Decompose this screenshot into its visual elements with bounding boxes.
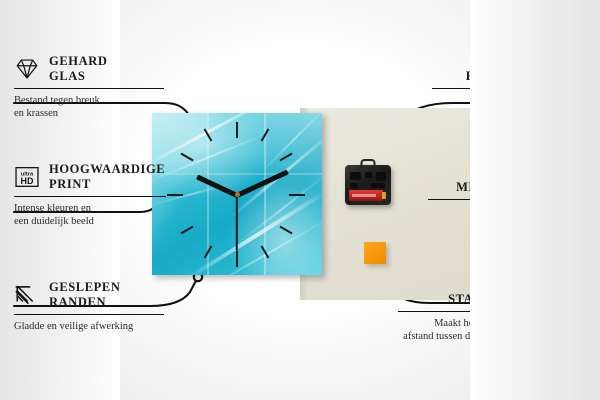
feature-title-line1: GEHARD — [49, 54, 107, 69]
feature-subtitle-line1: Eenvoudige installatie — [432, 94, 586, 107]
feature-title-line2: MECHANISME — [456, 180, 551, 195]
feature-title-line2: PRINT — [49, 177, 165, 192]
hanger-hook-icon — [361, 159, 376, 168]
feature-subtitle-line2: van de klok aan de muur — [432, 107, 586, 120]
feature-title-line1: HOOGWAARDIGE — [49, 162, 165, 177]
feature-subtitle-line2: een duidelijk beeld — [14, 215, 166, 228]
feature-hoogwaardige-print: ultra HD HOOGWAARDIGE PRINT Intense kleu… — [14, 162, 166, 228]
feature-title-line1: STILLE — [456, 165, 551, 180]
hour-marker — [236, 122, 238, 138]
feature-title-line2: GLAS — [49, 69, 107, 84]
ultra-hd-icon: ultra HD — [14, 164, 40, 190]
beveled-edges-icon — [14, 282, 40, 308]
feature-title-line2: STANDHOUDER — [448, 292, 551, 307]
divider — [14, 88, 164, 89]
feature-subtitle-line1: Maakt het behouden van een gelijke — [398, 317, 586, 330]
feature-title-line2: HANDGREEP — [466, 69, 551, 84]
divider — [14, 196, 166, 197]
hour-marker — [289, 194, 305, 196]
framed-picture-icon — [560, 56, 586, 82]
feature-geslepen-randen: GESLEPEN RANDEN Gladde en veilige afwerk… — [14, 280, 164, 333]
down-arrow-pad-icon — [560, 279, 586, 305]
feature-title-line2: RANDEN — [49, 295, 121, 310]
battery — [349, 190, 383, 201]
gear-icon — [560, 167, 586, 193]
feature-subtitle-line2: van de klok — [428, 218, 586, 231]
feature-title-line1: SCHUIMAF- — [448, 277, 551, 292]
foam-spacer — [364, 242, 386, 264]
divider — [14, 314, 164, 315]
feature-duurzame-handgreep: DUURZAME HANDGREEP Eenvoudige installati… — [432, 54, 586, 120]
glass-wall-clock — [152, 113, 322, 275]
divider — [428, 199, 586, 200]
feature-stille-mechanisme: STILLE MECHANISME Geruisloze wijzers van… — [428, 165, 586, 231]
hour-hand — [196, 175, 238, 198]
feature-title-line1: GESLEPEN — [49, 280, 121, 295]
divider — [398, 311, 586, 312]
feature-subtitle-line1: Intense kleuren en — [14, 202, 166, 215]
feature-subtitle-line1: Gladde en veilige afwerking — [14, 320, 164, 333]
product-photo — [120, 100, 480, 300]
hour-marker — [180, 226, 193, 235]
center-pin — [235, 192, 240, 197]
feature-subtitle-line1: Bestand tegen breuk — [14, 94, 164, 107]
hour-marker — [236, 251, 238, 267]
infographic-canvas: GEHARD GLAS Bestand tegen breuk en krass… — [0, 0, 600, 400]
quartz-movement — [345, 165, 391, 205]
feature-subtitle-line1: Geruisloze wijzers — [428, 205, 586, 218]
feature-title-line1: DUURZAME — [466, 54, 551, 69]
second-hand — [236, 195, 238, 251]
hour-marker — [167, 194, 183, 196]
feature-schuimafstandhouder: SCHUIMAF- STANDHOUDER Maakt het behouden… — [398, 277, 586, 343]
divider — [432, 88, 586, 89]
svg-text:HD: HD — [21, 176, 34, 186]
feature-gehard-glas: GEHARD GLAS Bestand tegen breuk en krass… — [14, 54, 164, 120]
feature-subtitle-line2: afstand tussen de klok en de muur mogeli… — [398, 330, 586, 343]
diamond-icon — [14, 56, 40, 82]
feature-subtitle-line2: en krassen — [14, 107, 164, 120]
